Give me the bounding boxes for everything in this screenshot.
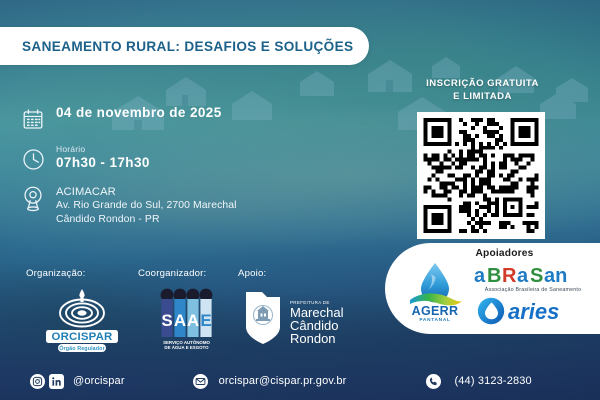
coorganizer-label: Coorganizador: (138, 268, 206, 279)
svg-text:an: an (544, 265, 567, 287)
event-poster: SANEAMENTO RURAL: DESAFIOS E SOLUÇÕES 04… (0, 0, 600, 400)
envelope-icon[interactable] (193, 374, 208, 389)
svg-text:S: S (530, 265, 543, 287)
event-date-row: 04 de novembro de 2025 (18, 104, 288, 134)
svg-text:E: E (200, 311, 211, 330)
social-handle-text: @orcispar (73, 375, 125, 387)
organization-column-coorganizador: Coorganizador: S A A E SERVIÇO AUTÔNOMO … (138, 268, 238, 352)
saae-logo: S A A E SERVIÇO AUTÔNOMO DE ÁGUA E ESGOT… (151, 286, 225, 352)
event-address-line-2: Cândido Rondon - PR (56, 213, 237, 226)
event-time-value: 07h30 - 17h30 (56, 155, 150, 171)
event-venue: ACIMACAR (56, 185, 237, 199)
social-handle-group[interactable]: @orcispar (30, 374, 125, 389)
event-location-row: ACIMACAR Av. Rio Grande do Sul, 2700 Mar… (18, 184, 288, 226)
abrasan-logo: a B R a S an Associação Brasileira de Sa… (472, 261, 594, 295)
email-text: orcispar@cispar.pr.gov.br (219, 375, 347, 387)
svg-text:R: R (502, 265, 517, 287)
marechal-candido-rondon-logo: PREFEITURA DE Marechal Cândido Rondon (238, 286, 356, 348)
event-address-line-1: Av. Rio Grande do Sul, 2700 Marechal (56, 199, 237, 212)
email-group[interactable]: orcispar@cispar.pr.gov.br (193, 374, 347, 389)
page-title: SANEAMENTO RURAL: DESAFIOS E SOLUÇÕES (22, 39, 353, 54)
linkedin-icon[interactable] (49, 374, 64, 389)
title-banner: SANEAMENTO RURAL: DESAFIOS E SOLUÇÕES (0, 27, 369, 65)
agerr-logo: AGERR PANTANAL (403, 260, 466, 327)
svg-text:ORCISPAR: ORCISPAR (52, 331, 113, 343)
supporters-logos: AGERR PANTANAL a B R a S an Associação B… (403, 260, 594, 327)
event-date-value: 04 de novembro de 2025 (56, 105, 222, 121)
supporters-title: Apoiadores (415, 248, 594, 259)
aries-logo: aries (472, 296, 594, 326)
svg-text:Órgão Regulador: Órgão Regulador (59, 344, 105, 352)
svg-text:B: B (487, 265, 501, 287)
svg-text:a: a (517, 265, 529, 287)
phone-group[interactable]: (44) 3123-2830 (426, 374, 531, 389)
qr-code[interactable] (417, 112, 545, 239)
registration-title: INSCRIÇÃO GRATUITA E LIMITADA (400, 78, 565, 103)
support-label: Apoio: (238, 268, 266, 279)
agerr-logo-mark: AGERR PANTANAL (406, 260, 464, 322)
phone-icon[interactable] (426, 374, 441, 389)
svg-text:A: A (174, 311, 186, 330)
svg-text:a: a (474, 265, 486, 287)
event-info-block: 04 de novembro de 2025 Horário 07h30 - 1… (18, 104, 288, 236)
event-time-label: Horário (56, 145, 150, 154)
phone-text: (44) 3123-2830 (454, 375, 531, 387)
organization-column-apoio: Apoio: PREFEITURA DE Marechal Cândido (238, 268, 356, 348)
footer-contact-bar: @orcispar orcispar@cispar.pr.gov.br (44)… (0, 362, 600, 400)
qr-code-image (423, 118, 539, 233)
calendar-icon (18, 104, 48, 134)
organization-label: Organização: (26, 268, 85, 279)
location-pin-icon (18, 184, 48, 214)
svg-text:Associação Brasileira de Sanea: Associação Brasileira de Saneamento (485, 287, 582, 293)
registration-block: INSCRIÇÃO GRATUITA E LIMITADA (400, 78, 565, 103)
svg-text:aries: aries (508, 299, 559, 324)
organizations-block: Organização: ORCISPAR Órgão Regulador Co… (26, 268, 356, 352)
svg-text:DE ÁGUA E ESGOTO: DE ÁGUA E ESGOTO (164, 345, 209, 350)
svg-text:AGERR: AGERR (411, 304, 458, 318)
svg-text:PANTANAL: PANTANAL (419, 317, 450, 322)
svg-text:A: A (187, 311, 199, 330)
clock-icon (18, 144, 48, 174)
svg-text:Rondon: Rondon (290, 331, 336, 346)
instagram-icon[interactable] (30, 374, 45, 389)
organization-column-organizador: Organização: ORCISPAR Órgão Regulador (26, 268, 138, 352)
event-time-row: Horário 07h30 - 17h30 (18, 144, 288, 174)
orcispar-logo: ORCISPAR Órgão Regulador (38, 286, 126, 352)
svg-text:S: S (161, 311, 172, 330)
supporters-card: Apoiadores (385, 243, 600, 334)
